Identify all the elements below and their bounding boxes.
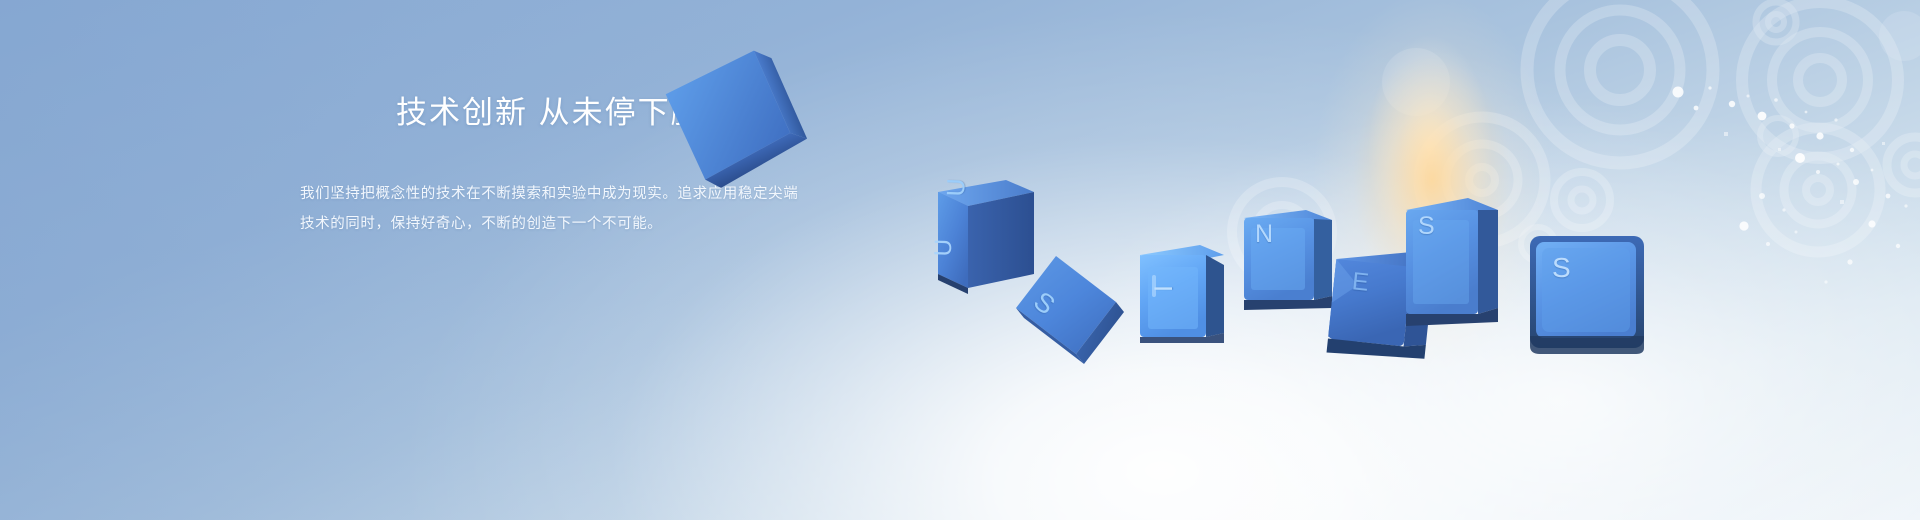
keycap-i-letter: I xyxy=(1152,285,1177,292)
keycap-u-letter: U xyxy=(944,178,970,197)
keycap-n-letter: N xyxy=(1255,222,1273,247)
keycap-s-tilted xyxy=(1012,250,1112,350)
keycap-u-label: U xyxy=(934,239,957,257)
keycap-s-rounded-letter: S xyxy=(1552,254,1571,282)
hero-banner: 技术创新 从未停下脚步 我们坚持把概念性的技术在不断摸索和实验中成为现实。追求应… xyxy=(0,0,1920,520)
hero-description-line-1: 我们坚持把概念性的技术在不断摸索和实验中成为现实。追求应用稳定尖端 xyxy=(300,180,860,210)
hero-description: 我们坚持把概念性的技术在不断摸索和实验中成为现实。追求应用稳定尖端 技术的同时，… xyxy=(300,180,860,239)
hero-description-line-2: 技术的同时，保持好奇心，不断的创造下一个不可能。 xyxy=(300,210,860,240)
keycap-s-tall-letter: S xyxy=(1418,214,1435,239)
keycap-e-letter: E xyxy=(1351,269,1370,296)
keycap-s-rounded xyxy=(1528,232,1638,344)
